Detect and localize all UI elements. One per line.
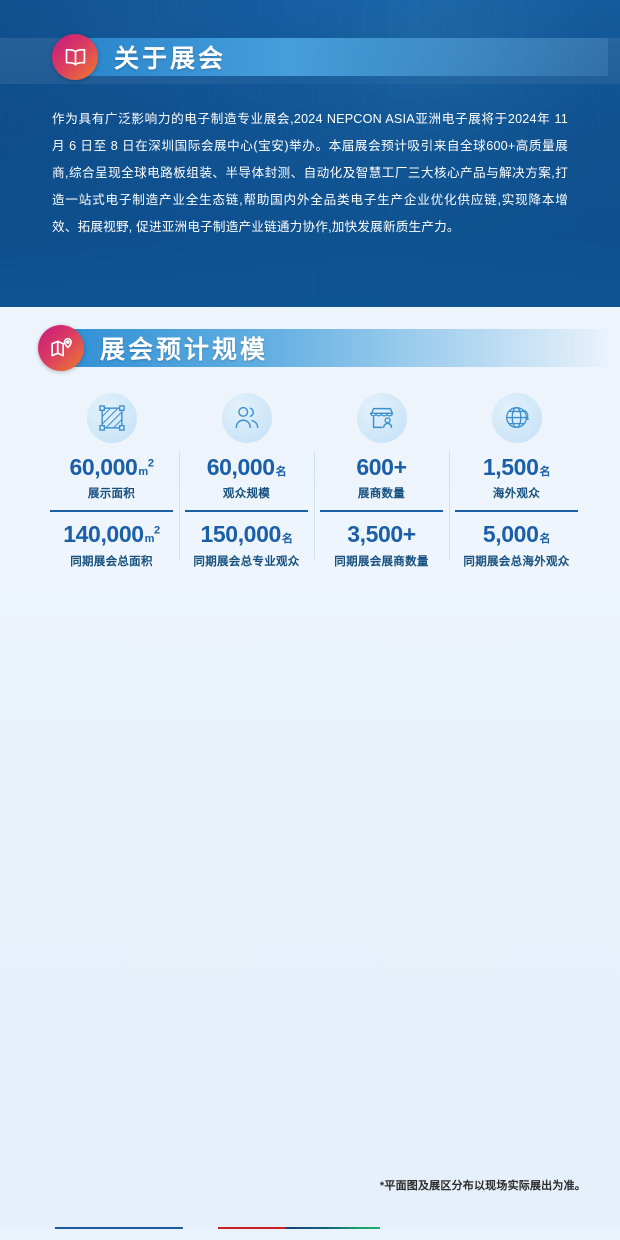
unit: 名 xyxy=(539,466,550,478)
stat-card-overseas: 1,500名 海外观众 5,000名 同期展会总海外观众 xyxy=(449,393,584,569)
stat-card-visitors: 60,000名 观众规模 150,000名 同期展会总专业观众 xyxy=(179,393,314,569)
stat-bottom-label-overseas: 同期展会总海外观众 xyxy=(449,553,584,569)
stat-bottom-label-exhibitors: 同期展会展商数量 xyxy=(314,553,449,569)
floorplan-section: 9 & 11号馆 NEPCON ASIA 亚洲电子展 ufi Approved … xyxy=(0,579,620,1229)
stats-row: 60,000m2 展示面积 140,000m2 同期展会总面积 60,000名 xyxy=(38,393,590,569)
stat-top-label-exhibitors: 展商数量 xyxy=(314,485,449,501)
banner-hall-9-11: 9 & 11号馆 xyxy=(55,1227,183,1229)
stat-card-exhibitors: 600+ 展商数量 3,500+ 同期展会展商数量 xyxy=(314,393,449,569)
scale-section-header: 展会预计规模 xyxy=(38,325,590,371)
scale-title: 展会预计规模 xyxy=(100,330,268,366)
stat-bottom-value-overseas: 5,000名 xyxy=(449,522,584,547)
scale-section: 展会预计规模 60,000m2 展示面积 140,000m2 xyxy=(0,307,620,579)
stat-divider xyxy=(320,510,443,512)
stat-divider xyxy=(455,510,578,512)
floorplan-footnote: *平面图及展区分布以现场实际展出为准。 xyxy=(380,1177,586,1193)
about-section: 关于展会 作为具有广泛影响力的电子制造专业展会,2024 NEPCON ASIA… xyxy=(0,0,620,307)
stat-top-label-area: 展示面积 xyxy=(44,485,179,501)
exhibitor-booth-icon xyxy=(357,393,407,443)
about-body-text: 作为具有广泛影响力的电子制造专业展会,2024 NEPCON ASIA亚洲电子展… xyxy=(52,106,590,241)
open-book-icon xyxy=(52,34,98,80)
banner-hall-13-label: 13号馆 xyxy=(218,1227,286,1229)
banner-hall-9-11-label: 9 & 11号馆 xyxy=(55,1227,150,1229)
stat-divider xyxy=(50,510,173,512)
unit: 名 xyxy=(282,533,293,545)
stat-bottom-value-exhibitors: 3,500+ xyxy=(314,522,449,547)
unit-sup: 2 xyxy=(154,525,160,537)
banner-hall-13: 13号馆 xyxy=(218,1227,380,1229)
area-square-icon xyxy=(87,393,137,443)
stat-bottom-label-visitors: 同期展会总专业观众 xyxy=(179,553,314,569)
stat-bottom-label-area: 同期展会总面积 xyxy=(44,553,179,569)
stat-top-value-exhibitors: 600+ xyxy=(314,455,449,480)
unit: m xyxy=(145,533,154,545)
unit: m xyxy=(138,466,147,478)
unit: 名 xyxy=(276,466,287,478)
unit: 名 xyxy=(539,533,550,545)
stat-bottom-value-visitors: 150,000名 xyxy=(179,522,314,547)
visitors-icon xyxy=(222,393,272,443)
stat-top-label-visitors: 观众规模 xyxy=(179,485,314,501)
stat-top-value-overseas: 1,500名 xyxy=(449,455,584,480)
globe-icon xyxy=(492,393,542,443)
banner-hall-13-gradient xyxy=(286,1227,380,1229)
about-section-header: 关于展会 xyxy=(52,34,590,80)
stat-top-value-area: 60,000m2 xyxy=(44,455,179,480)
stat-card-area: 60,000m2 展示面积 140,000m2 同期展会总面积 xyxy=(44,393,179,569)
stat-top-label-overseas: 海外观众 xyxy=(449,485,584,501)
stat-divider xyxy=(185,510,308,512)
about-title: 关于展会 xyxy=(114,39,226,75)
map-pin-icon xyxy=(38,325,84,371)
stat-top-value-visitors: 60,000名 xyxy=(179,455,314,480)
stat-bottom-value-area: 140,000m2 xyxy=(44,522,179,547)
unit-sup: 2 xyxy=(148,457,154,469)
